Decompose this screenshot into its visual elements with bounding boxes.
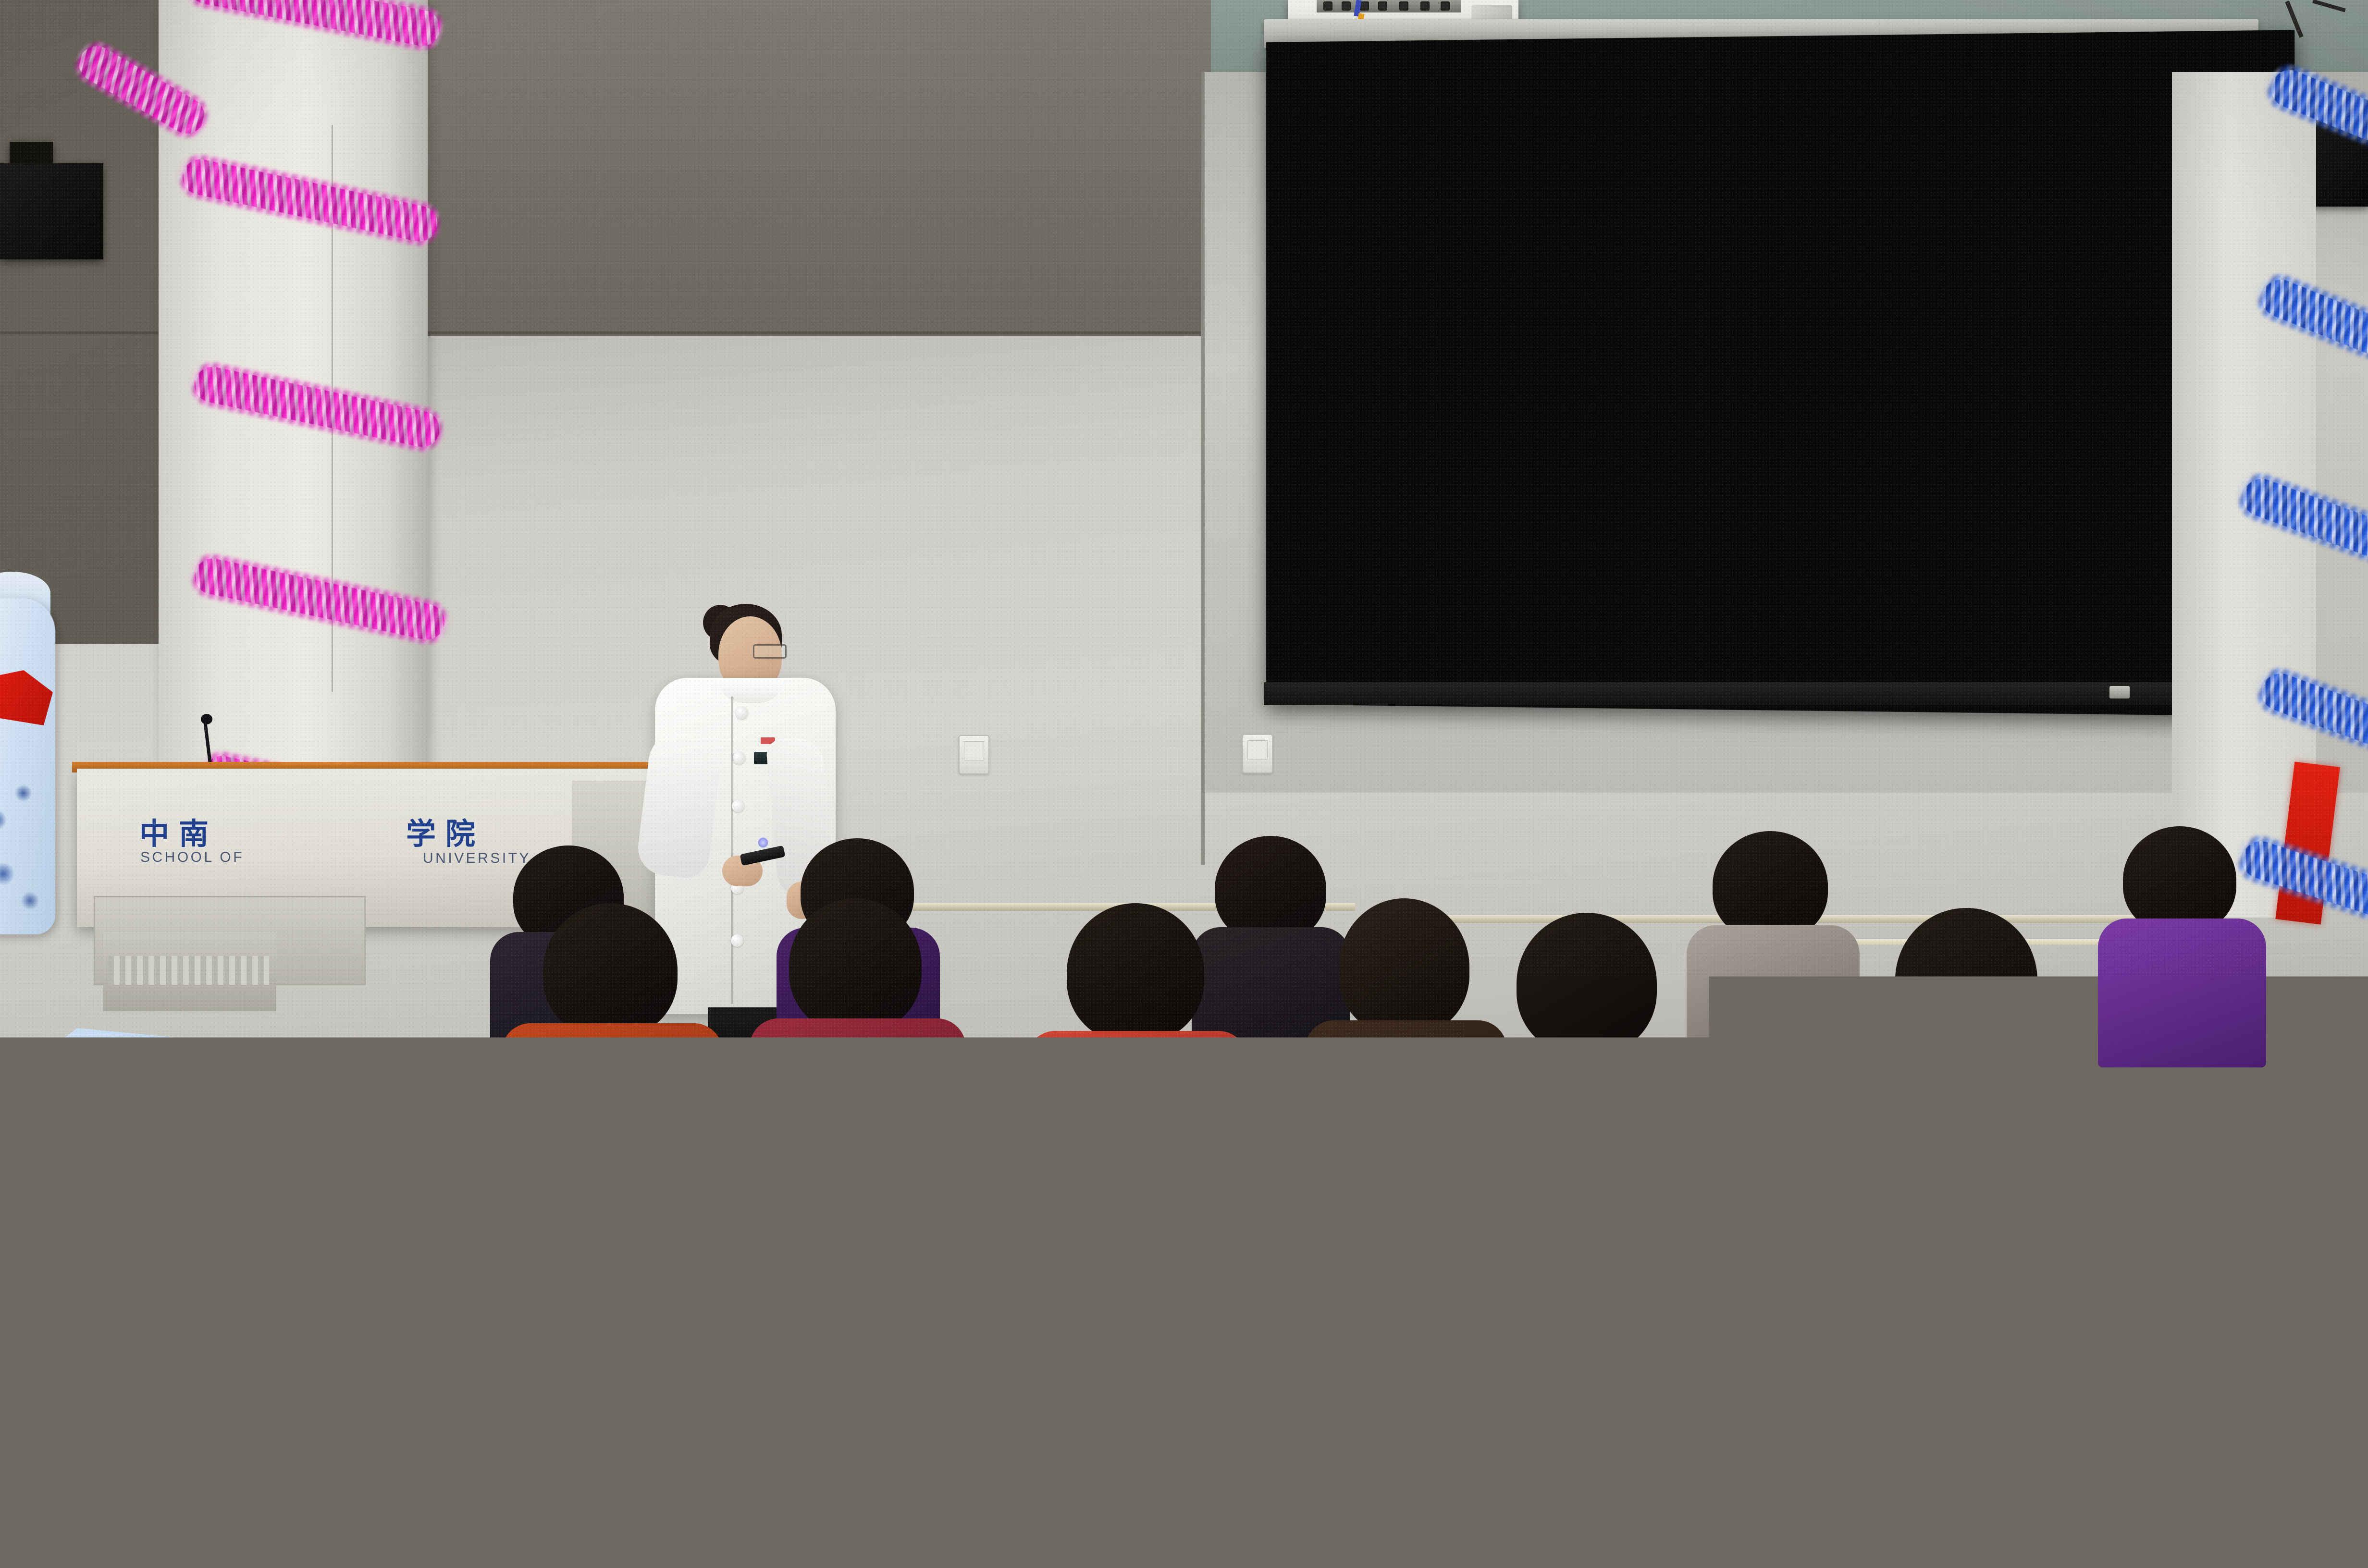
projection-screen-frame: 牙周病 据美国疾病控制与预防中心的调查结果， 30岁以上的成年人中，有一半人都不…	[1266, 30, 2294, 717]
projector-port-panel	[1317, 0, 1461, 12]
head	[951, 1071, 1172, 1297]
coat-button	[732, 800, 744, 812]
screen-pull-tab[interactable]	[2109, 686, 2130, 698]
utility-box-vent	[108, 956, 269, 985]
audience-member	[1711, 999, 2220, 1568]
cap-bow-knot	[135, 1187, 156, 1249]
lecture-hall-photo: 牙周病 据美国疾病控制与预防中心的调查结果， 30岁以上的成年人中，有一半人都不…	[0, 0, 2368, 1568]
podium-sign-cn-right: 学院	[406, 809, 485, 853]
torso	[1725, 1263, 2210, 1568]
glasses-icon	[753, 644, 787, 659]
podium-microphone	[201, 714, 212, 724]
clicker-led	[758, 837, 768, 848]
wall-corner	[1201, 72, 1205, 865]
wall-speaker-left	[0, 163, 103, 259]
head	[336, 1047, 538, 1259]
cap-bow-pattern-right	[663, 1260, 728, 1294]
coat-button	[731, 934, 743, 947]
porcelain-vase	[0, 598, 55, 934]
audience-member	[0, 1326, 375, 1568]
coat-button	[736, 707, 748, 719]
light-switch-right[interactable]	[1242, 734, 1273, 773]
head	[1339, 898, 1469, 1036]
head	[543, 903, 678, 1038]
audience-member	[1269, 1119, 1691, 1568]
coat-button	[733, 752, 745, 764]
audience-member	[471, 1408, 836, 1568]
podium-sign-cn-left: 中南	[139, 809, 218, 853]
head	[2123, 826, 2236, 934]
torso	[860, 1278, 1283, 1568]
audience-member	[865, 1071, 1278, 1568]
torso	[1259, 1321, 1701, 1568]
cap-bow-knot	[650, 1258, 669, 1311]
head	[789, 898, 922, 1033]
head	[1713, 831, 1828, 941]
head	[1215, 836, 1326, 943]
nurse-cap	[538, 1119, 836, 1456]
light-switch-left[interactable]	[959, 735, 989, 774]
head	[1517, 913, 1657, 1055]
cap-bow-pattern-right	[150, 1189, 222, 1230]
podium-sign-en-left: SCHOOL OF	[140, 849, 244, 866]
lab-coat-seam	[731, 697, 733, 1004]
head	[1365, 1119, 1595, 1345]
head	[1067, 903, 1204, 1042]
